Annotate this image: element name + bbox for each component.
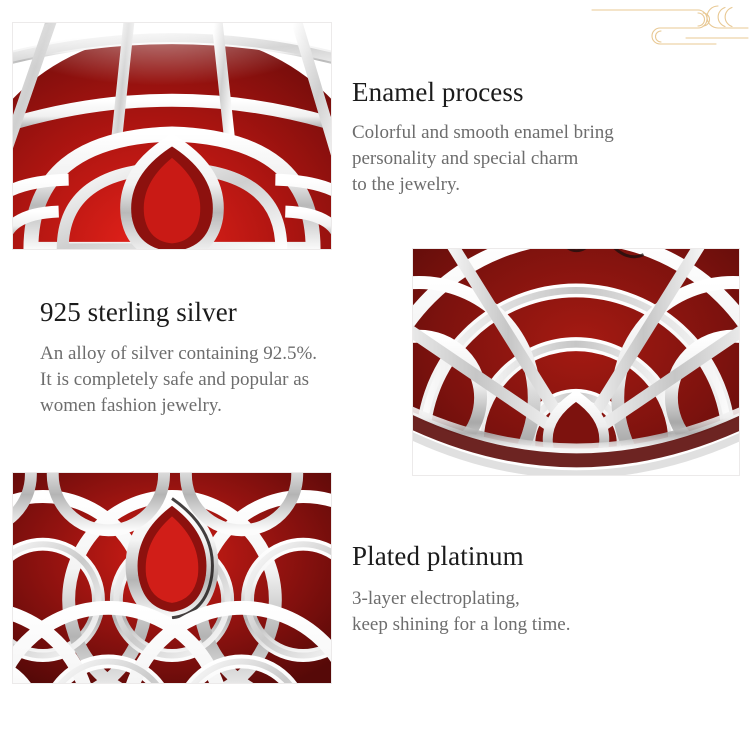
feature-description-line: It is completely safe and popular as (40, 367, 317, 393)
feature-title-enamel: Enamel process (352, 78, 614, 108)
feature-text-silver: 925 sterling silver An alloy of silver c… (40, 298, 317, 419)
feature-title-platinum: Plated platinum (352, 542, 570, 572)
feature-description-platinum: 3-layer electroplating, keep shining for… (352, 586, 570, 638)
feature-description-line: 3-layer electroplating, (352, 586, 570, 612)
feature-description-line: An alloy of silver containing 92.5%. (40, 341, 317, 367)
auspicious-cloud-motif-icon (590, 0, 750, 48)
feature-description-enamel: Colorful and smooth enamel bring persona… (352, 120, 614, 198)
product-feature-page: Enamel process Colorful and smooth ename… (0, 0, 750, 750)
feature-description-line: keep shining for a long time. (352, 612, 570, 638)
feature-image-platinum (12, 472, 332, 684)
feature-image-silver (412, 248, 740, 476)
feature-description-line: to the jewelry. (352, 172, 614, 198)
feature-text-enamel: Enamel process Colorful and smooth ename… (352, 78, 614, 198)
feature-image-enamel (12, 22, 332, 250)
feature-description-silver: An alloy of silver containing 92.5%. It … (40, 341, 317, 419)
feature-text-platinum: Plated platinum 3-layer electroplating, … (352, 542, 570, 638)
feature-description-line: personality and special charm (352, 146, 614, 172)
feature-description-line: Colorful and smooth enamel bring (352, 120, 614, 146)
feature-description-line: women fashion jewelry. (40, 393, 317, 419)
feature-title-silver: 925 sterling silver (40, 298, 317, 328)
